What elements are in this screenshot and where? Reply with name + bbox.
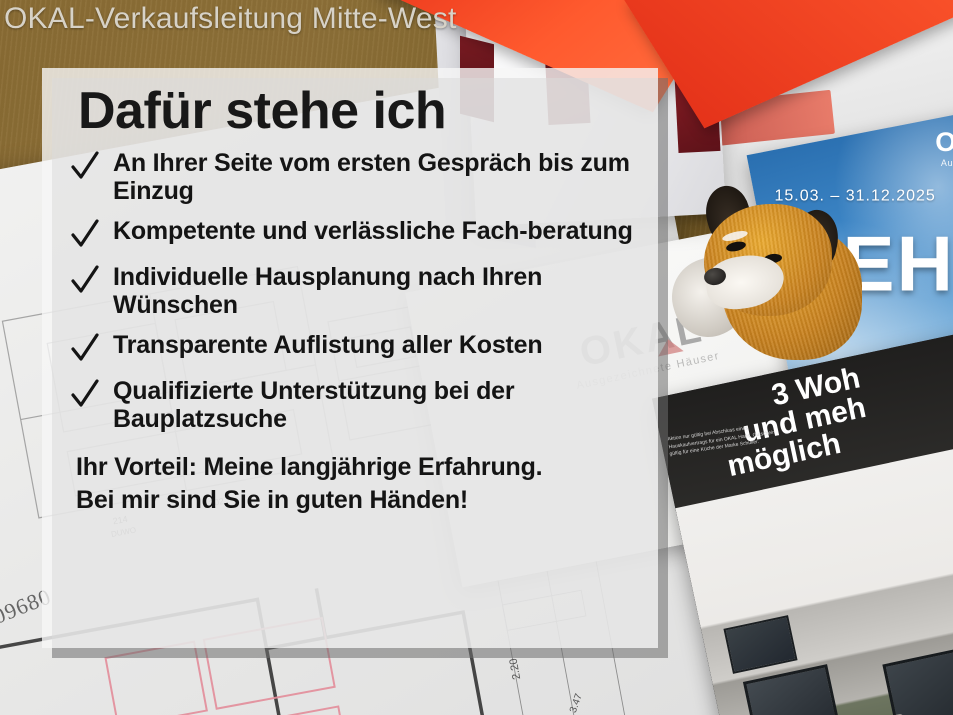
list-item-label: Individuelle Hausplanung nach Ihren Wüns… <box>113 263 636 319</box>
list-item: Transparente Auflistung aller Kosten <box>70 331 636 365</box>
check-icon <box>70 218 100 252</box>
closing-line-2: Bei mir sind Sie in guten Händen! <box>76 484 636 517</box>
blue-brochure-brand-name: OKA <box>935 127 953 158</box>
list-item: Individuelle Hausplanung nach Ihren Wüns… <box>70 263 636 319</box>
photo-window-upper <box>723 615 797 674</box>
panel-heading: Dafür stehe ich <box>78 84 636 139</box>
photo-window-left <box>743 664 842 715</box>
check-icon <box>70 150 100 184</box>
list-item: An Ihrer Seite vom ersten Gespräch bis z… <box>70 149 636 205</box>
svg-text:2.20: 2.20 <box>508 657 524 680</box>
closing-line-1: Ihr Vorteil: Meine langjährige Erfahrung… <box>76 451 636 484</box>
blue-brochure-brand-sub: Ausgezeichn <box>935 158 953 168</box>
slide-canvas: 2.20 3.47 214 DUWO 202 1368-30009680 OKA… <box>0 0 953 715</box>
list-item: Kompetente und verlässliche Fach-beratun… <box>70 217 636 251</box>
plush-fox-figurine <box>690 170 870 360</box>
check-icon <box>70 332 100 366</box>
list-item-label: Transparente Auflistung aller Kosten <box>113 331 542 359</box>
check-icon <box>70 378 100 412</box>
list-item-label: Qualifizierte Unterstützung bei der Baup… <box>113 377 636 433</box>
closing-statement: Ihr Vorteil: Meine langjährige Erfahrung… <box>76 451 636 517</box>
check-icon <box>70 264 100 298</box>
blue-brochure-brand: OKA Ausgezeichn <box>935 127 953 168</box>
list-item: Qualifizierte Unterstützung bei der Baup… <box>70 377 636 433</box>
photo-window-right <box>882 646 953 715</box>
content-panel: Dafür stehe ich An Ihrer Seite vom erste… <box>42 68 658 648</box>
list-item-label: Kompetente und verlässliche Fach-beratun… <box>113 217 633 245</box>
list-item-label: An Ihrer Seite vom ersten Gespräch bis z… <box>113 149 636 205</box>
benefits-list: An Ihrer Seite vom ersten Gespräch bis z… <box>70 149 636 433</box>
page-title: OKAL-Verkaufsleitung Mitte-West <box>4 2 457 36</box>
